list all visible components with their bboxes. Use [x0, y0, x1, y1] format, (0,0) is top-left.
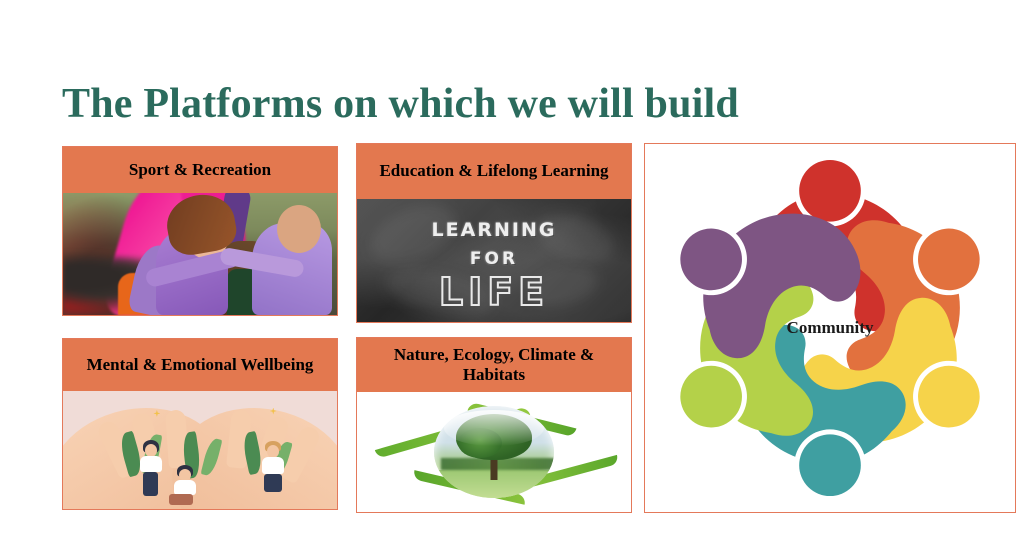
card-education-lifelong-learning-image: LEARNING FOR LIFE [357, 199, 631, 322]
chalk-text-line-2: FOR [357, 249, 631, 269]
figure-head [799, 434, 861, 496]
runners-celebrating-photo [63, 193, 337, 315]
card-nature-ecology-climate-habitats-image [357, 392, 631, 512]
cupped-hands-people-plants-illustration [63, 391, 337, 509]
slide-canvas: The Platforms on which we will build Spo… [0, 0, 1024, 535]
tree-in-sphere-eco-logo [357, 392, 631, 512]
community-panel[interactable]: Community [644, 143, 1016, 513]
card-nature-ecology-climate-habitats[interactable]: Nature, Ecology, Climate & Habitats [356, 337, 632, 513]
card-sport-recreation[interactable]: Sport & Recreation [62, 146, 338, 316]
card-sport-recreation-title: Sport & Recreation [63, 147, 337, 193]
chalkboard-learning-for-life-photo: LEARNING FOR LIFE [357, 199, 631, 322]
card-education-lifelong-learning-title: Education & Lifelong Learning [357, 144, 631, 199]
card-mental-emotional-wellbeing[interactable]: Mental & Emotional Wellbeing [62, 338, 338, 510]
decor-face-right [277, 205, 321, 253]
card-nature-ecology-climate-habitats-title: Nature, Ecology, Climate & Habitats [357, 338, 631, 392]
card-mental-emotional-wellbeing-title: Mental & Emotional Wellbeing [63, 339, 337, 391]
card-mental-emotional-wellbeing-image [63, 391, 337, 509]
card-education-lifelong-learning[interactable]: Education & Lifelong Learning LEARNING F… [356, 143, 632, 323]
community-teamwork-wheel [650, 149, 1010, 507]
decor-glass-sphere [434, 406, 554, 498]
page-title: The Platforms on which we will build [62, 80, 942, 128]
figure-head [799, 160, 861, 222]
card-sport-recreation-image [63, 193, 337, 315]
chalk-text-line-1: LEARNING [357, 219, 631, 241]
chalk-text-line-3: LIFE [357, 270, 631, 314]
